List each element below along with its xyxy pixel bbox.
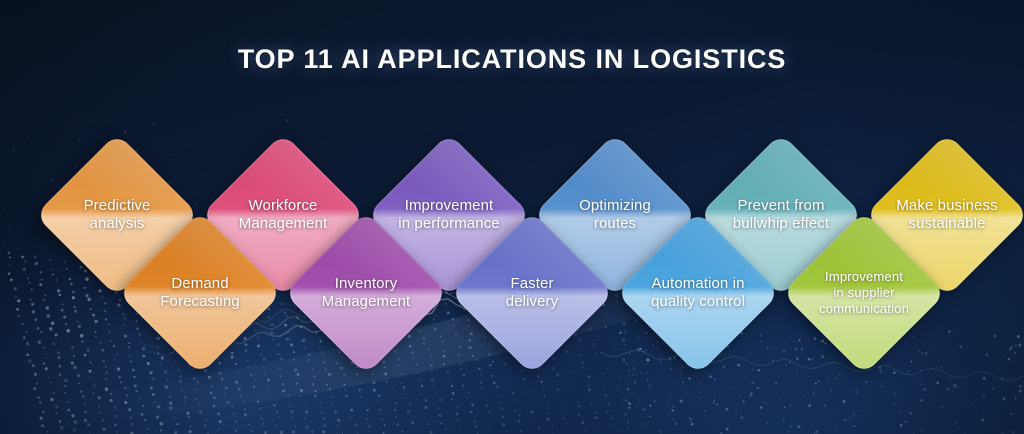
diamond-grid: Predictive analysisDemand ForecastingWor… xyxy=(0,0,1024,434)
infographic-canvas: TOP 11 AI APPLICATIONS IN LOGISTICS Pred… xyxy=(0,0,1024,434)
